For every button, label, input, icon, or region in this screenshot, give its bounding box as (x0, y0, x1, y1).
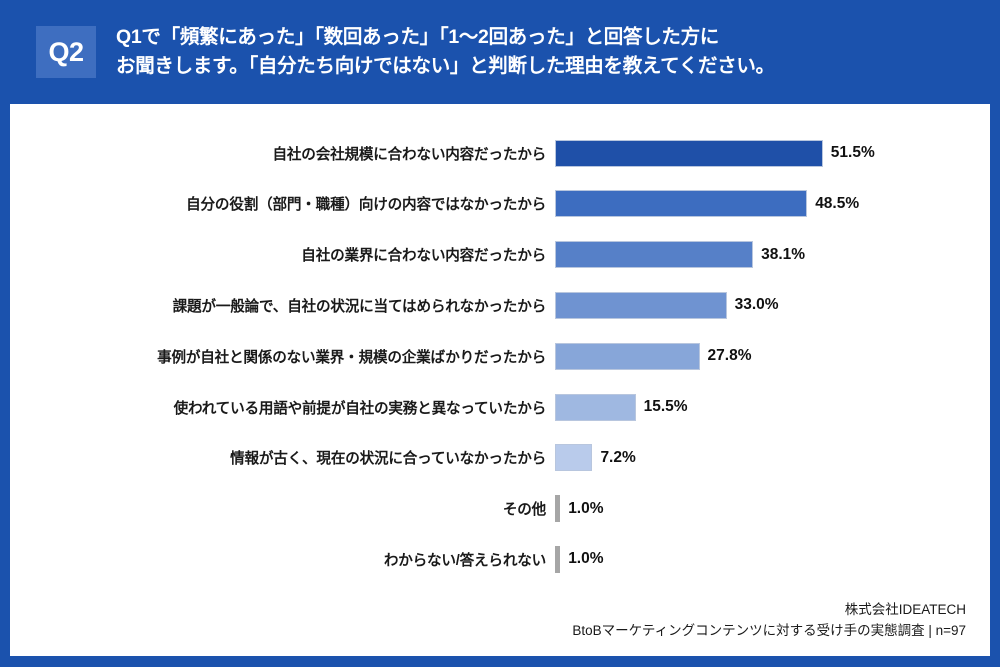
category-label: 自社の業界に合わない内容だったから (10, 244, 555, 265)
bar (555, 444, 592, 471)
chart-row: 課題が一般論で、自社の状況に当てはめられなかったから33.0% (10, 288, 990, 322)
bar-area: 7.2% (555, 441, 990, 475)
footer-survey: BtoBマーケティングコンテンツに対する受け手の実態調査 | n=97 (572, 621, 966, 642)
footer-credits: 株式会社IDEATECH BtoBマーケティングコンテンツに対する受け手の実態調… (572, 600, 966, 642)
chart-row: 情報が古く、現在の状況に合っていなかったから7.2% (10, 441, 990, 475)
footer-company: 株式会社IDEATECH (572, 600, 966, 621)
bar (555, 343, 700, 370)
value-label: 1.0% (568, 550, 603, 568)
value-label: 48.5% (815, 195, 859, 213)
category-label: 課題が一般論で、自社の状況に当てはめられなかったから (10, 295, 555, 316)
value-label: 1.0% (568, 500, 603, 518)
bar-area: 48.5% (555, 187, 990, 221)
question-number-badge: Q2 (36, 26, 96, 78)
bar-area: 38.1% (555, 238, 990, 272)
value-label: 15.5% (644, 398, 688, 416)
bar-area: 1.0% (555, 492, 990, 526)
bar (555, 495, 560, 522)
value-label: 51.5% (831, 144, 875, 162)
bar-area: 15.5% (555, 390, 990, 424)
value-label: 33.0% (735, 296, 779, 314)
chart-row: 自社の業界に合わない内容だったから38.1% (10, 238, 990, 272)
content-panel: 自社の会社規模に合わない内容だったから51.5%自分の役割（部門・職種）向けの内… (10, 104, 990, 656)
bar-area: 27.8% (555, 339, 990, 373)
value-label: 38.1% (761, 246, 805, 264)
question-header: Q2 Q1で「頻繁にあった」「数回あった」「1〜2回あった」と回答した方に お聞… (0, 0, 1000, 104)
bar (555, 394, 636, 421)
value-label: 7.2% (600, 449, 635, 467)
bar-area: 33.0% (555, 288, 990, 322)
category-label: 事例が自社と関係のない業界・規模の企業ばかりだったから (10, 346, 555, 367)
bar (555, 190, 807, 217)
category-label: 自社の会社規模に合わない内容だったから (10, 143, 555, 164)
bar (555, 292, 727, 319)
bar (555, 546, 560, 573)
slide-root: Q2 Q1で「頻繁にあった」「数回あった」「1〜2回あった」と回答した方に お聞… (0, 0, 1000, 667)
chart-row: わからない/答えられない1.0% (10, 542, 990, 576)
category-label: 自分の役割（部門・職種）向けの内容ではなかったから (10, 193, 555, 214)
bar (555, 241, 753, 268)
chart-row: 自社の会社規模に合わない内容だったから51.5% (10, 136, 990, 170)
bar-area: 1.0% (555, 542, 990, 576)
category-label: 使われている用語や前提が自社の実務と異なっていたから (10, 397, 555, 418)
bar-area: 51.5% (555, 136, 990, 170)
category-label: その他 (10, 498, 555, 519)
bar-chart: 自社の会社規模に合わない内容だったから51.5%自分の役割（部門・職種）向けの内… (10, 114, 990, 584)
value-label: 27.8% (708, 347, 752, 365)
category-label: わからない/答えられない (10, 549, 555, 570)
chart-row: その他1.0% (10, 492, 990, 526)
category-label: 情報が古く、現在の状況に合っていなかったから (10, 447, 555, 468)
chart-row: 使われている用語や前提が自社の実務と異なっていたから15.5% (10, 390, 990, 424)
chart-row: 自分の役割（部門・職種）向けの内容ではなかったから48.5% (10, 187, 990, 221)
chart-row: 事例が自社と関係のない業界・規模の企業ばかりだったから27.8% (10, 339, 990, 373)
bar (555, 140, 823, 167)
question-text: Q1で「頻繁にあった」「数回あった」「1〜2回あった」と回答した方に お聞きしま… (116, 23, 775, 82)
